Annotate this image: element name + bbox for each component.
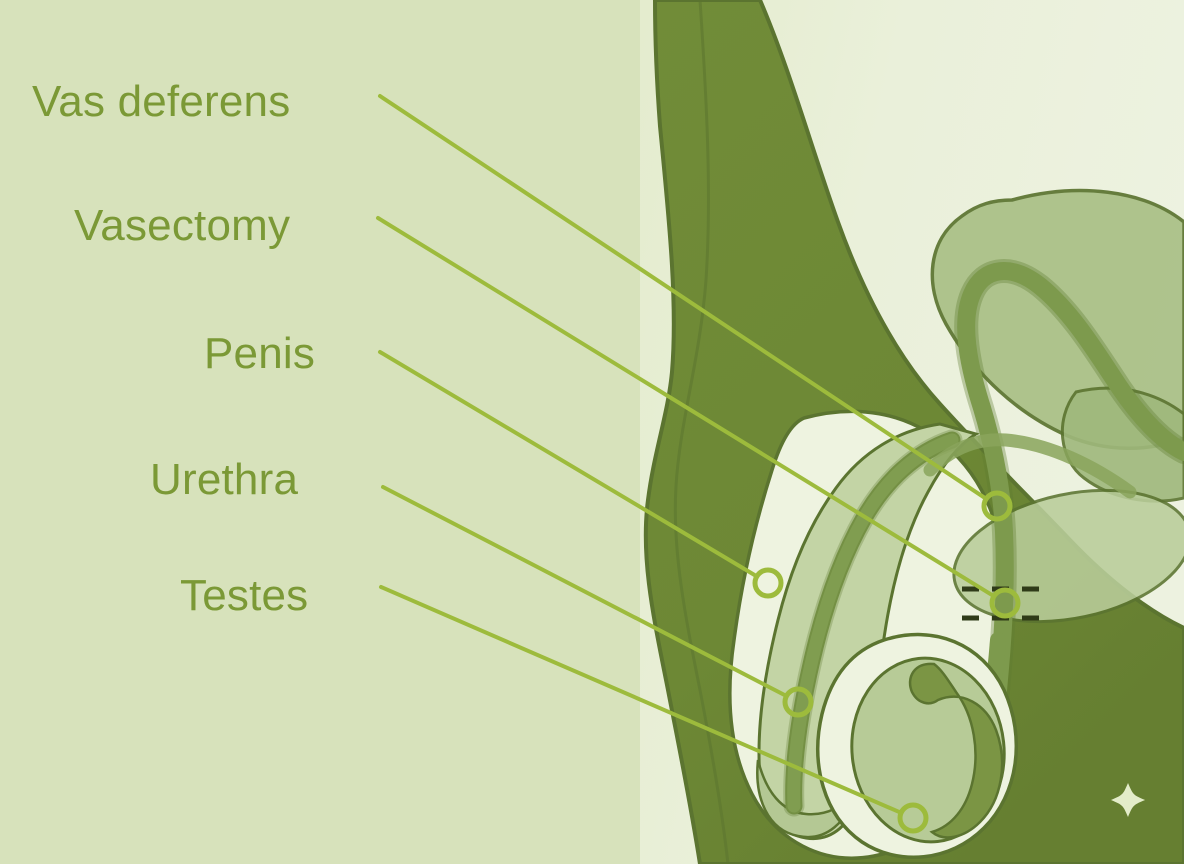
label-vasectomy: Vasectomy [74,201,290,250]
label-testes: Testes [180,571,308,620]
label-vas-deferens: Vas deferens [32,77,290,126]
label-urethra: Urethra [150,455,298,504]
label-penis: Penis [204,329,315,378]
anatomy-diagram: Vas deferensVasectomyPenisUrethraTestes [0,0,1184,864]
background-left-panel [0,0,680,864]
diagram-canvas: Vas deferensVasectomyPenisUrethraTestes [0,0,1184,864]
